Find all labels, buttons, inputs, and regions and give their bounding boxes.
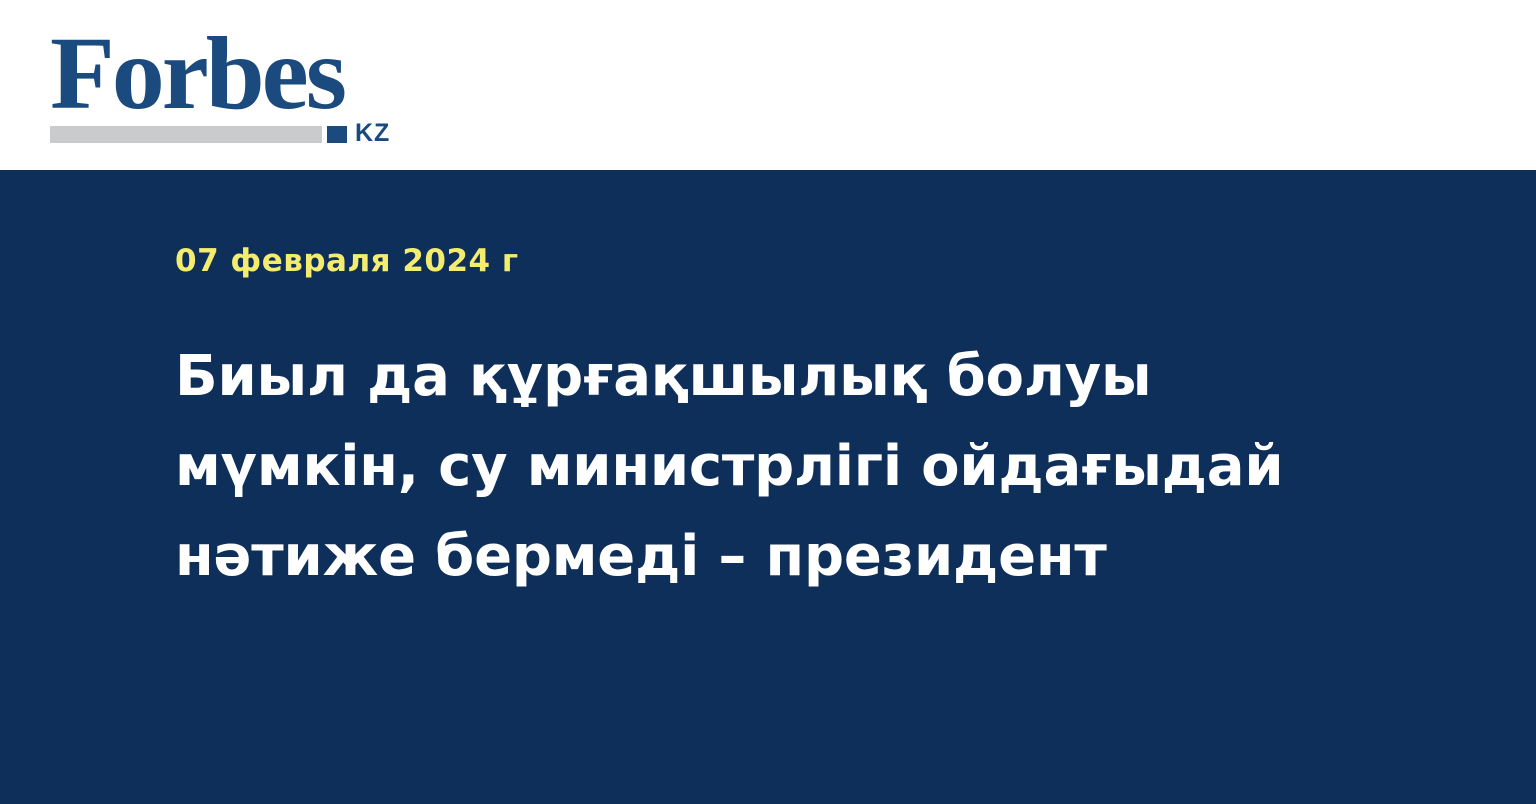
forbes-wordmark: Forbes [50,22,344,126]
article-cover-card: Forbes KZ 07 февраля 2024 г Биыл да құрғ… [0,0,1536,804]
forbes-kz-logo[interactable]: Forbes KZ [50,22,410,147]
logo-square-mark-icon [327,126,347,143]
site-header: Forbes KZ [0,0,1536,170]
logo-locale-suffix: KZ [355,121,390,146]
article-headline: Биыл да құрғақшылық болуы мүмкін, су мин… [175,332,1355,602]
article-content: 07 февраля 2024 г Биыл да құрғақшылық бо… [175,242,1425,602]
logo-underline-bar-icon [50,126,322,143]
article-date: 07 февраля 2024 г [175,242,1425,280]
article-body: 07 февраля 2024 г Биыл да құрғақшылық бо… [0,170,1536,804]
